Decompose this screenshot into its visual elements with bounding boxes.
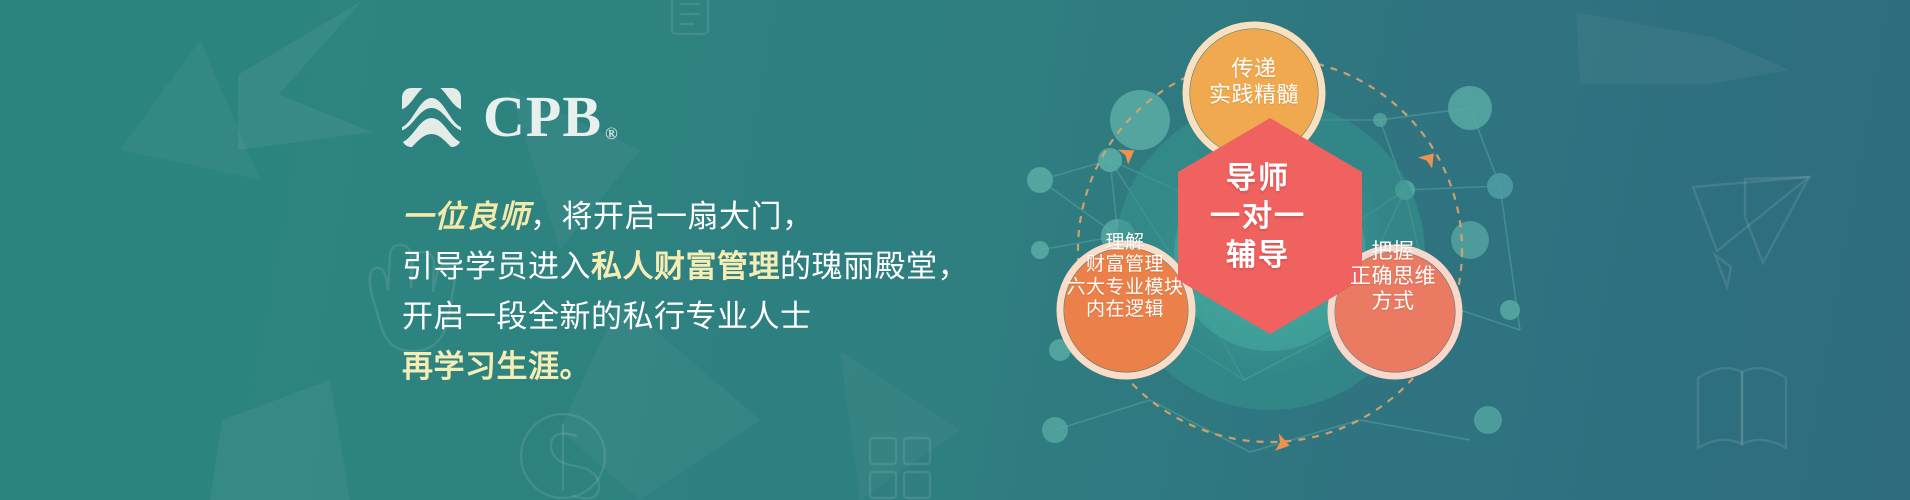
tagline-body: ，将开启一扇大门， xyxy=(530,199,814,234)
tagline-line-4: 再学习生涯。 xyxy=(402,342,1042,392)
paper-plane-icon xyxy=(1693,177,1809,287)
copy-block: CPB® 一位良师，将开启一扇大门， 引导学员进入私人财富管理的瑰丽殿堂， 开启… xyxy=(402,86,1042,392)
tagline: 一位良师，将开启一扇大门， 引导学员进入私人财富管理的瑰丽殿堂， 开启一段全新的… xyxy=(402,192,1042,392)
open-book-icon xyxy=(1698,368,1786,448)
document-icon xyxy=(672,0,708,34)
tagline-body: 的瑰丽殿堂， xyxy=(780,249,969,284)
orbit-arrow-icon xyxy=(1418,147,1440,168)
tagline-highlight: 再学习生涯。 xyxy=(402,349,591,384)
brand-logo: CPB® xyxy=(402,86,1042,148)
cpb-mountain-logo-icon xyxy=(402,88,461,147)
brand-wordmark: CPB® xyxy=(483,88,619,146)
tagline-highlight: 一位良师 xyxy=(402,199,530,234)
mentorship-diagram xyxy=(1000,0,1540,500)
node-bottom-left xyxy=(1060,244,1192,376)
triangle-shape xyxy=(210,380,350,500)
tagline-line-2: 引导学员进入私人财富管理的瑰丽殿堂， xyxy=(402,242,1042,292)
brand-wordmark-text: CPB xyxy=(483,88,602,146)
cpb-promo-banner: CPB® 一位良师，将开启一扇大门， 引导学员进入私人财富管理的瑰丽殿堂， 开启… xyxy=(0,0,1910,500)
triangle-shape xyxy=(238,0,372,150)
tagline-body: 开启一段全新的私行专业人士 xyxy=(402,299,812,334)
grid-icon xyxy=(870,438,930,498)
tagline-body: 引导学员进入 xyxy=(402,249,591,284)
tagline-highlight: 私人财富管理 xyxy=(591,249,780,284)
registered-mark: ® xyxy=(605,125,619,142)
dollar-circle-icon xyxy=(521,414,605,498)
triangle-shape xyxy=(1576,12,1790,84)
tagline-line-1: 一位良师，将开启一扇大门， xyxy=(402,192,1042,242)
tagline-line-3: 开启一段全新的私行专业人士 xyxy=(402,292,1042,342)
